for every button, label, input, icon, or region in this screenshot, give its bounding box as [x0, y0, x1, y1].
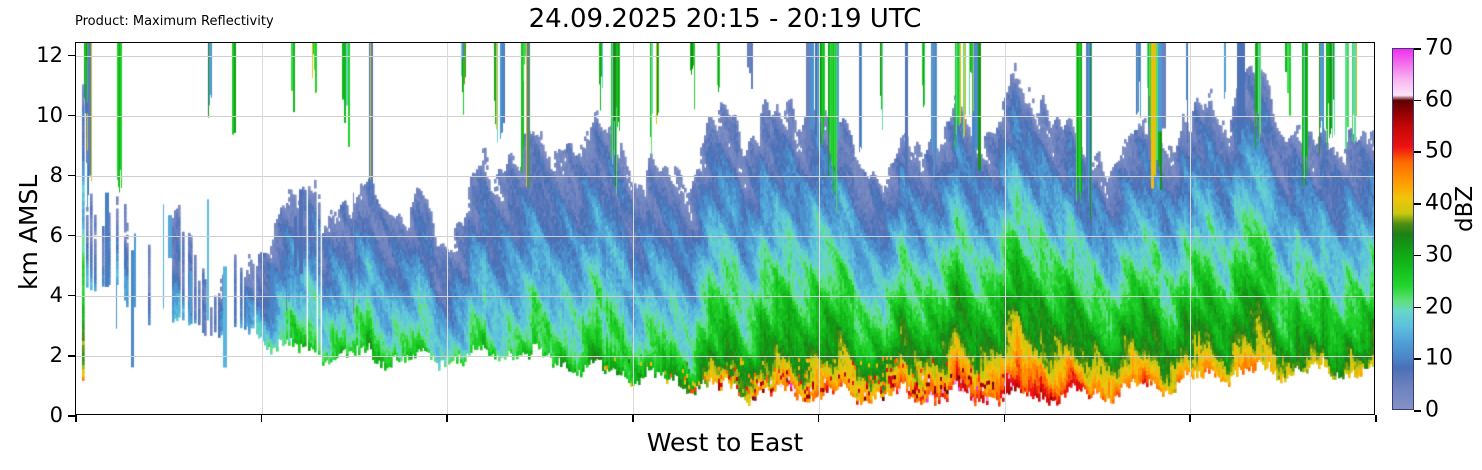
- colorbar-tick-label: 10: [1425, 346, 1453, 371]
- colorbar-tick-mark: [1414, 203, 1421, 205]
- colorbar-gradient: [1392, 48, 1414, 410]
- colorbar-tick-mark: [1414, 358, 1421, 360]
- radar-cross-section-figure: Product: Maximum Reflectivity 24.09.2025…: [0, 0, 1482, 470]
- colorbar-tick-mark: [1414, 410, 1421, 412]
- y-tick-mark: [68, 235, 75, 237]
- colorbar-tick-label: 50: [1425, 139, 1453, 164]
- y-tick-label: 6: [50, 223, 63, 247]
- x-tick-mark: [1004, 415, 1006, 422]
- x-axis-label: West to East: [75, 428, 1375, 457]
- colorbar-tick-mark: [1414, 151, 1421, 153]
- y-tick-label: 8: [50, 163, 63, 187]
- colorbar-tick-mark: [1414, 255, 1421, 257]
- y-tick-mark: [68, 115, 75, 117]
- y-tick-mark: [68, 295, 75, 297]
- y-tick-mark: [68, 415, 75, 417]
- x-tick-mark: [261, 415, 263, 422]
- colorbar-tick-label: 20: [1425, 294, 1453, 319]
- colorbar-tick-mark: [1414, 48, 1421, 50]
- y-tick-mark: [68, 175, 75, 177]
- plot-area: [75, 42, 1375, 415]
- x-tick-mark: [818, 415, 820, 422]
- colorbar-tick-mark: [1414, 100, 1421, 102]
- x-tick-mark: [75, 415, 77, 422]
- y-tick-label: 10: [36, 103, 63, 127]
- colorbar-label: dBZ: [1452, 186, 1478, 232]
- x-tick-mark: [1189, 415, 1191, 422]
- y-tick-label: 12: [36, 43, 63, 67]
- reflectivity-heatmap: [76, 43, 1375, 415]
- colorbar-tick-label: 60: [1425, 87, 1453, 112]
- colorbar-tick-mark: [1414, 307, 1421, 309]
- y-tick-label: 2: [50, 343, 63, 367]
- colorbar-tick-label: 40: [1425, 191, 1453, 216]
- page-title: 24.09.2025 20:15 - 20:19 UTC: [75, 4, 1375, 34]
- x-tick-mark: [1375, 415, 1377, 422]
- colorbar-tick-label: 0: [1425, 398, 1439, 423]
- x-tick-mark: [446, 415, 448, 422]
- y-tick-label: 4: [50, 283, 63, 307]
- x-tick-mark: [632, 415, 634, 422]
- y-tick-label: 0: [50, 403, 63, 427]
- y-tick-mark: [68, 55, 75, 57]
- y-tick-mark: [68, 355, 75, 357]
- y-axis-label: km AMSL: [14, 175, 43, 290]
- colorbar-tick-label: 30: [1425, 242, 1453, 267]
- colorbar-tick-label: 70: [1425, 36, 1453, 61]
- colorbar: 706050403020100: [1392, 48, 1414, 410]
